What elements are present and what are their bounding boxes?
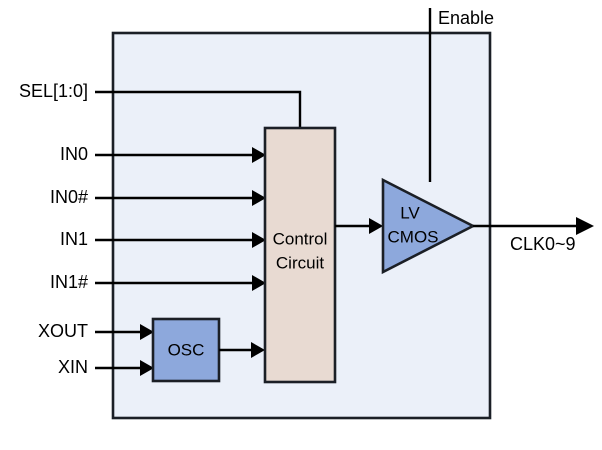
block-diagram: Enable SEL[1:0] IN0 IN0# IN1 IN1# XOUT X… — [0, 0, 602, 450]
in0-label: IN0 — [60, 144, 88, 164]
osc-block-label: OSC — [168, 340, 205, 359]
control-circuit-label-line2: Circuit — [276, 253, 324, 272]
in1-label: IN1 — [60, 229, 88, 249]
enable-label: Enable — [438, 8, 494, 28]
sel-label: SEL[1:0] — [19, 81, 88, 101]
xout-label: XOUT — [38, 321, 88, 341]
in1n-label: IN1# — [50, 272, 88, 292]
diagram-canvas: Enable SEL[1:0] IN0 IN0# IN1 IN1# XOUT X… — [0, 0, 602, 450]
lv-cmos-label-line2: CMOS — [388, 227, 439, 246]
control-circuit-label-line1: Control — [273, 229, 328, 248]
xin-label: XIN — [58, 357, 88, 377]
clk-output-label: CLK0~9 — [510, 234, 576, 254]
in0n-label: IN0# — [50, 187, 88, 207]
clk-output-arrowhead — [576, 217, 594, 235]
lv-cmos-label-line1: LV — [400, 203, 420, 222]
